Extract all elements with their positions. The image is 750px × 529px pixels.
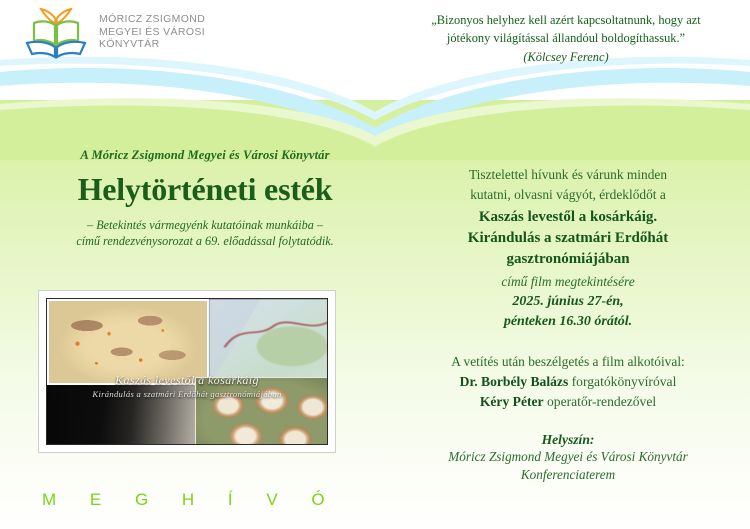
after-screening-note: A vetítés után beszélgetés a film alkotó…: [392, 352, 744, 372]
pastry-photo: [195, 377, 328, 445]
event-date-line-1: 2025. június 27-én,: [392, 292, 744, 312]
series-subtitle: – Betekintés vármegyénk kutatóinak munká…: [30, 217, 380, 249]
map-photo: [209, 299, 328, 385]
open-book-logo-icon: [22, 8, 90, 60]
spacer: [392, 332, 744, 352]
guest-2-name: Kéry Péter: [480, 394, 544, 409]
event-date: 2025. június 27-én, pénteken 16.30 órátó…: [392, 292, 744, 332]
map-route-line: [220, 314, 328, 364]
lead-line-2: kutatni, olvasni vágyót, érdeklődőt a: [392, 185, 744, 205]
subtitle-line-1: – Betekintés vármegyénk kutatóinak munká…: [30, 217, 380, 233]
invitation-poster: MÓRICZ ZSIGMOND MEGYEI ÉS VÁROSI KÖNYVTÁ…: [0, 0, 750, 529]
soup-photo: [47, 299, 209, 385]
left-column: A Móricz Zsigmond Megyei és Városi Könyv…: [30, 148, 380, 249]
photo-collage-frame: Kaszás levestől a kosárkáig Kirándulás a…: [38, 290, 336, 453]
venue-label: Helyszín:: [392, 432, 744, 448]
logo-line-3: KÖNYVTÁR: [99, 38, 205, 51]
library-logo: MÓRICZ ZSIGMOND MEGYEI ÉS VÁROSI KÖNYVTÁ…: [22, 8, 205, 60]
guest-1-role: forgatókönyvíróval: [568, 374, 676, 389]
film-title-suffix: című film megtekintésére: [392, 272, 744, 291]
page-title: Helytörténeti esték: [30, 170, 380, 208]
lead-line-1: Tisztelettel hívunk és várunk minden: [392, 165, 744, 185]
film-title: Kaszás levestől a kosárkáig. Kirándulás …: [392, 207, 744, 270]
invitation-lead: Tisztelettel hívunk és várunk minden kut…: [392, 165, 744, 204]
right-column: Tisztelettel hívunk és várunk minden kut…: [392, 165, 744, 485]
guest-2-role: operatőr-rendezővel: [544, 394, 657, 409]
logo-line-1: MÓRICZ ZSIGMOND: [99, 13, 205, 26]
epigraph-quote: „Bizonyos helyhez kell azért kapcsoltatn…: [392, 11, 740, 66]
film-title-line-2: Kirándulás a szatmári Erdőhát: [392, 228, 744, 249]
dark-photo: [47, 385, 209, 445]
venue-line-2: Konferenciaterem: [392, 466, 744, 485]
venue-line-1: Móricz Zsigmond Megyei és Városi Könyvtá…: [392, 448, 744, 467]
logo-line-2: MEGYEI ÉS VÁROSI: [99, 26, 205, 39]
film-title-line-3: gasztronómiájában: [392, 249, 744, 270]
quote-attribution: (Kölcsey Ferenc): [392, 48, 740, 66]
film-title-line-1: Kaszás levestől a kosárkáig.: [392, 207, 744, 228]
library-logo-text: MÓRICZ ZSIGMOND MEGYEI ÉS VÁROSI KÖNYVTÁ…: [99, 8, 205, 51]
subtitle-line-2: című rendezvénysorozat a 69. előadással …: [30, 233, 380, 249]
guest-1: Dr. Borbély Balázs forgatókönyvíróval: [392, 372, 744, 392]
guest-1-name: Dr. Borbély Balázs: [460, 374, 569, 389]
quote-line-1: „Bizonyos helyhez kell azért kapcsoltatn…: [392, 11, 740, 29]
guest-2: Kéry Péter operatőr-rendezővel: [392, 392, 744, 412]
photo-collage: Kaszás levestől a kosárkáig Kirándulás a…: [46, 298, 328, 445]
event-time-line: pénteken 16.30 órától.: [392, 312, 744, 332]
quote-line-2: jótékony világítással állandóul boldogít…: [392, 29, 740, 47]
series-organizer: A Móricz Zsigmond Megyei és Városi Könyv…: [30, 148, 380, 163]
invitation-word: M E G H Í V Ó: [42, 490, 339, 510]
spacer-2: [392, 412, 744, 432]
